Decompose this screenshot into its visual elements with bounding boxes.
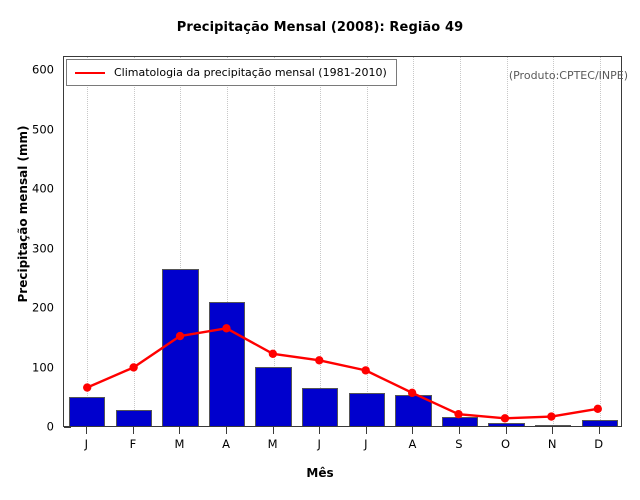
page-title: Precipitação Mensal (2008): Região 49 (0, 20, 640, 35)
x-tick-mark (506, 427, 507, 434)
x-tick-mark (86, 427, 87, 434)
x-tick-mark (133, 427, 134, 434)
x-tick-label-2: M (159, 439, 199, 451)
x-axis-title: Mês (0, 466, 640, 480)
x-tick-mark (459, 427, 460, 434)
gridline-vertical (413, 57, 415, 426)
x-tick-mark (552, 427, 553, 434)
legend-item-label: Climatologia da precipitação mensal (198… (114, 67, 387, 78)
bar-a-3 (209, 302, 245, 427)
gridline-vertical (134, 57, 136, 426)
x-tick-mark (273, 427, 274, 434)
x-tick-label-11: D (579, 439, 619, 451)
x-tick-label-5: J (299, 439, 339, 451)
plot-area (63, 56, 622, 427)
gridline-vertical (367, 57, 369, 426)
x-tick-label-1: F (113, 439, 153, 451)
bar-a-7 (395, 395, 431, 427)
bar-j-6 (349, 393, 385, 427)
x-tick-label-6: J (346, 439, 386, 451)
y-tick-label: 0 (14, 421, 54, 433)
bar-f-1 (116, 410, 152, 427)
bar-s-8 (442, 417, 478, 427)
bar-j-0 (69, 397, 105, 427)
gridline-vertical (320, 57, 322, 426)
x-tick-mark (319, 427, 320, 434)
x-tick-label-10: N (532, 439, 572, 451)
bar-j-5 (302, 388, 338, 427)
legend-line-swatch-icon (75, 72, 105, 74)
x-tick-mark (412, 427, 413, 434)
x-tick-label-9: O (486, 439, 526, 451)
gridline-vertical (553, 57, 555, 426)
bar-m-4 (255, 367, 291, 427)
x-tick-label-0: J (66, 439, 106, 451)
y-tick-mark (64, 427, 71, 428)
gridline-vertical (507, 57, 509, 426)
gridline-vertical (87, 57, 89, 426)
bar-m-2 (162, 269, 198, 427)
x-tick-label-3: A (206, 439, 246, 451)
producer-annotation: (Produto:CPTEC/INPE) (509, 69, 628, 82)
y-axis-title: Precipitação mensal (mm) (16, 94, 30, 334)
bar-d-11 (582, 420, 618, 427)
x-tick-mark (599, 427, 600, 434)
y-tick-label: 100 (14, 362, 54, 374)
legend: Climatologia da precipitação mensal (198… (66, 59, 397, 86)
x-tick-label-4: M (253, 439, 293, 451)
x-tick-label-8: S (439, 439, 479, 451)
gridline-vertical (460, 57, 462, 426)
chart-canvas: Precipitação Mensal (2008): Região 49 01… (0, 0, 640, 500)
y-axis: 0100200300400500600 (8, 0, 54, 500)
climatology-line-series (64, 57, 621, 426)
gridline-vertical (600, 57, 602, 426)
x-tick-label-7: A (392, 439, 432, 451)
x-tick-mark (366, 427, 367, 434)
y-tick-label: 600 (14, 64, 54, 76)
x-tick-mark (179, 427, 180, 434)
x-tick-mark (226, 427, 227, 434)
